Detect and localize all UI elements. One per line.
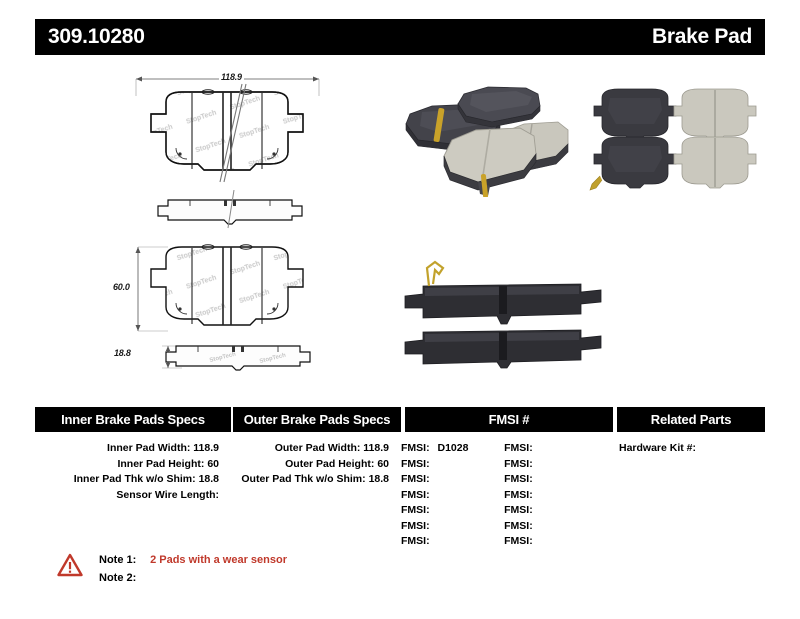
fmsi-label: FMSI: (504, 458, 533, 470)
fmsi-label: FMSI: (401, 489, 430, 501)
pad-edge-drawing-bottom: StopTech StopTech (120, 338, 335, 380)
spec-label: Outer Pad Height: (285, 458, 374, 470)
specs-table-header-row: Inner Brake Pads Specs Outer Brake Pads … (35, 407, 765, 432)
header-outer-specs: Outer Brake Pads Specs (233, 407, 401, 432)
fmsi-label: FMSI: (504, 504, 533, 516)
spec-label: Outer Pad Width: (275, 442, 361, 454)
fmsi-value (430, 535, 435, 547)
header-inner-specs: Inner Brake Pads Specs (35, 407, 231, 432)
spec-value: 18.8 (199, 473, 219, 485)
fmsi-value (533, 473, 538, 485)
related-parts-column: Hardware Kit #: (613, 441, 765, 550)
inner-specs-column: Inner Pad Width: 118.9 Inner Pad Height:… (35, 441, 231, 550)
note-1-value: 2 Pads with a wear sensor (150, 554, 287, 566)
fmsi-value (430, 458, 435, 470)
fmsi-label: FMSI: (504, 520, 533, 532)
spec-row: Outer Pad Height: 60 (231, 457, 401, 473)
fmsi-value (430, 489, 435, 501)
fmsi-row: FMSI: (504, 472, 613, 488)
part-number: 309.10280 (48, 25, 145, 49)
fmsi-subcolumn-right: FMSI: FMSI: FMSI: FMSI: (488, 441, 613, 550)
fmsi-label: FMSI: (504, 489, 533, 501)
fmsi-label: FMSI: (401, 535, 430, 547)
fmsi-value (533, 442, 538, 454)
fmsi-value: D1028 (433, 442, 469, 454)
notes-section: Note 1: 2 Pads with a wear sensor Note 2… (57, 551, 287, 587)
fmsi-row: FMSI: (504, 457, 613, 473)
spec-label: Outer Pad Thk w/o Shim: (241, 473, 365, 485)
page-title: Brake Pad (652, 25, 752, 49)
fmsi-value (533, 458, 538, 470)
fmsi-label: FMSI: (504, 473, 533, 485)
fmsi-row: FMSI: (401, 472, 488, 488)
product-photo-angled (392, 82, 572, 197)
fmsi-row: FMSI: (504, 534, 613, 550)
header-related-parts: Related Parts (617, 407, 765, 432)
product-photo-topdown (578, 84, 764, 196)
notes-text-block: Note 1: 2 Pads with a wear sensor Note 2… (99, 551, 287, 587)
related-part-row: Hardware Kit #: (613, 441, 765, 457)
fmsi-value (430, 520, 435, 532)
spec-value: 60 (207, 458, 219, 470)
spec-value: 18.8 (369, 473, 389, 485)
fmsi-row: FMSI: (401, 519, 488, 535)
pad-face-drawing-bottom (120, 235, 335, 345)
fmsi-label: FMSI: (401, 473, 430, 485)
spec-row: Inner Pad Height: 60 (35, 457, 231, 473)
spec-row: Inner Pad Width: 118.9 (35, 441, 231, 457)
fmsi-row: FMSI: (401, 503, 488, 519)
fmsi-subcolumn-left: FMSI: D1028 FMSI: FMSI: FMSI: (401, 441, 488, 550)
warning-triangle-icon (57, 553, 83, 577)
dimension-thickness-label: 18.8 (112, 348, 133, 358)
pad-face-drawing-top: StopTech (120, 70, 335, 185)
fmsi-row: FMSI: (401, 488, 488, 504)
specs-table: Inner Brake Pads Specs Outer Brake Pads … (35, 407, 765, 550)
dimension-height-label: 60.0 (111, 282, 132, 292)
fmsi-value (533, 520, 538, 532)
spec-row: Inner Pad Thk w/o Shim: 18.8 (35, 472, 231, 488)
fmsi-value (430, 473, 435, 485)
fmsi-row: FMSI: (504, 441, 613, 457)
fmsi-row: FMSI: (401, 457, 488, 473)
spec-row: Sensor Wire Length: (35, 488, 231, 504)
outer-specs-column: Outer Pad Width: 118.9 Outer Pad Height:… (231, 441, 401, 550)
spec-value: 118.9 (363, 442, 389, 454)
product-photo-edge-pair (395, 250, 615, 370)
dimension-width-label: 118.9 (219, 72, 244, 82)
note-2-line: Note 2: (99, 569, 287, 587)
fmsi-value (533, 504, 538, 516)
fmsi-value (430, 504, 435, 516)
fmsi-label: FMSI: (401, 520, 430, 532)
fmsi-row: FMSI: D1028 (401, 441, 488, 457)
product-spec-sheet: 309.10280 Brake Pad StopTech (0, 0, 800, 619)
specs-table-body: Inner Pad Width: 118.9 Inner Pad Height:… (35, 432, 765, 550)
spec-row: Outer Pad Width: 118.9 (231, 441, 401, 457)
note-1-line: Note 1: 2 Pads with a wear sensor (99, 551, 287, 569)
fmsi-row: FMSI: (504, 519, 613, 535)
fmsi-label: FMSI: (504, 535, 533, 547)
fmsi-value (533, 535, 538, 547)
drawings-area: StopTech (0, 60, 800, 390)
fmsi-value (533, 489, 538, 501)
fmsi-row: FMSI: (401, 534, 488, 550)
spec-label: Inner Pad Thk w/o Shim: (74, 473, 196, 485)
spec-value: 118.9 (193, 442, 219, 454)
pad-edge-drawing-top (150, 190, 310, 230)
related-part-label: Hardware Kit #: (619, 442, 696, 454)
spec-row: Outer Pad Thk w/o Shim: 18.8 (231, 472, 401, 488)
fmsi-column: FMSI: D1028 FMSI: FMSI: FMSI: (401, 441, 613, 550)
fmsi-row: FMSI: (504, 488, 613, 504)
fmsi-label: FMSI: (504, 442, 533, 454)
spec-label: Inner Pad Width: (107, 442, 190, 454)
header-fmsi: FMSI # (405, 407, 613, 432)
header-bar: 309.10280 Brake Pad (35, 19, 765, 55)
fmsi-label: FMSI: (401, 442, 430, 454)
note-1-label: Note 1: (99, 551, 147, 569)
spec-label: Sensor Wire Length: (116, 489, 219, 501)
spec-value: 60 (377, 458, 389, 470)
fmsi-label: FMSI: (401, 504, 430, 516)
fmsi-label: FMSI: (401, 458, 430, 470)
note-2-label: Note 2: (99, 569, 147, 587)
fmsi-row: FMSI: (504, 503, 613, 519)
spec-label: Inner Pad Height: (117, 458, 204, 470)
